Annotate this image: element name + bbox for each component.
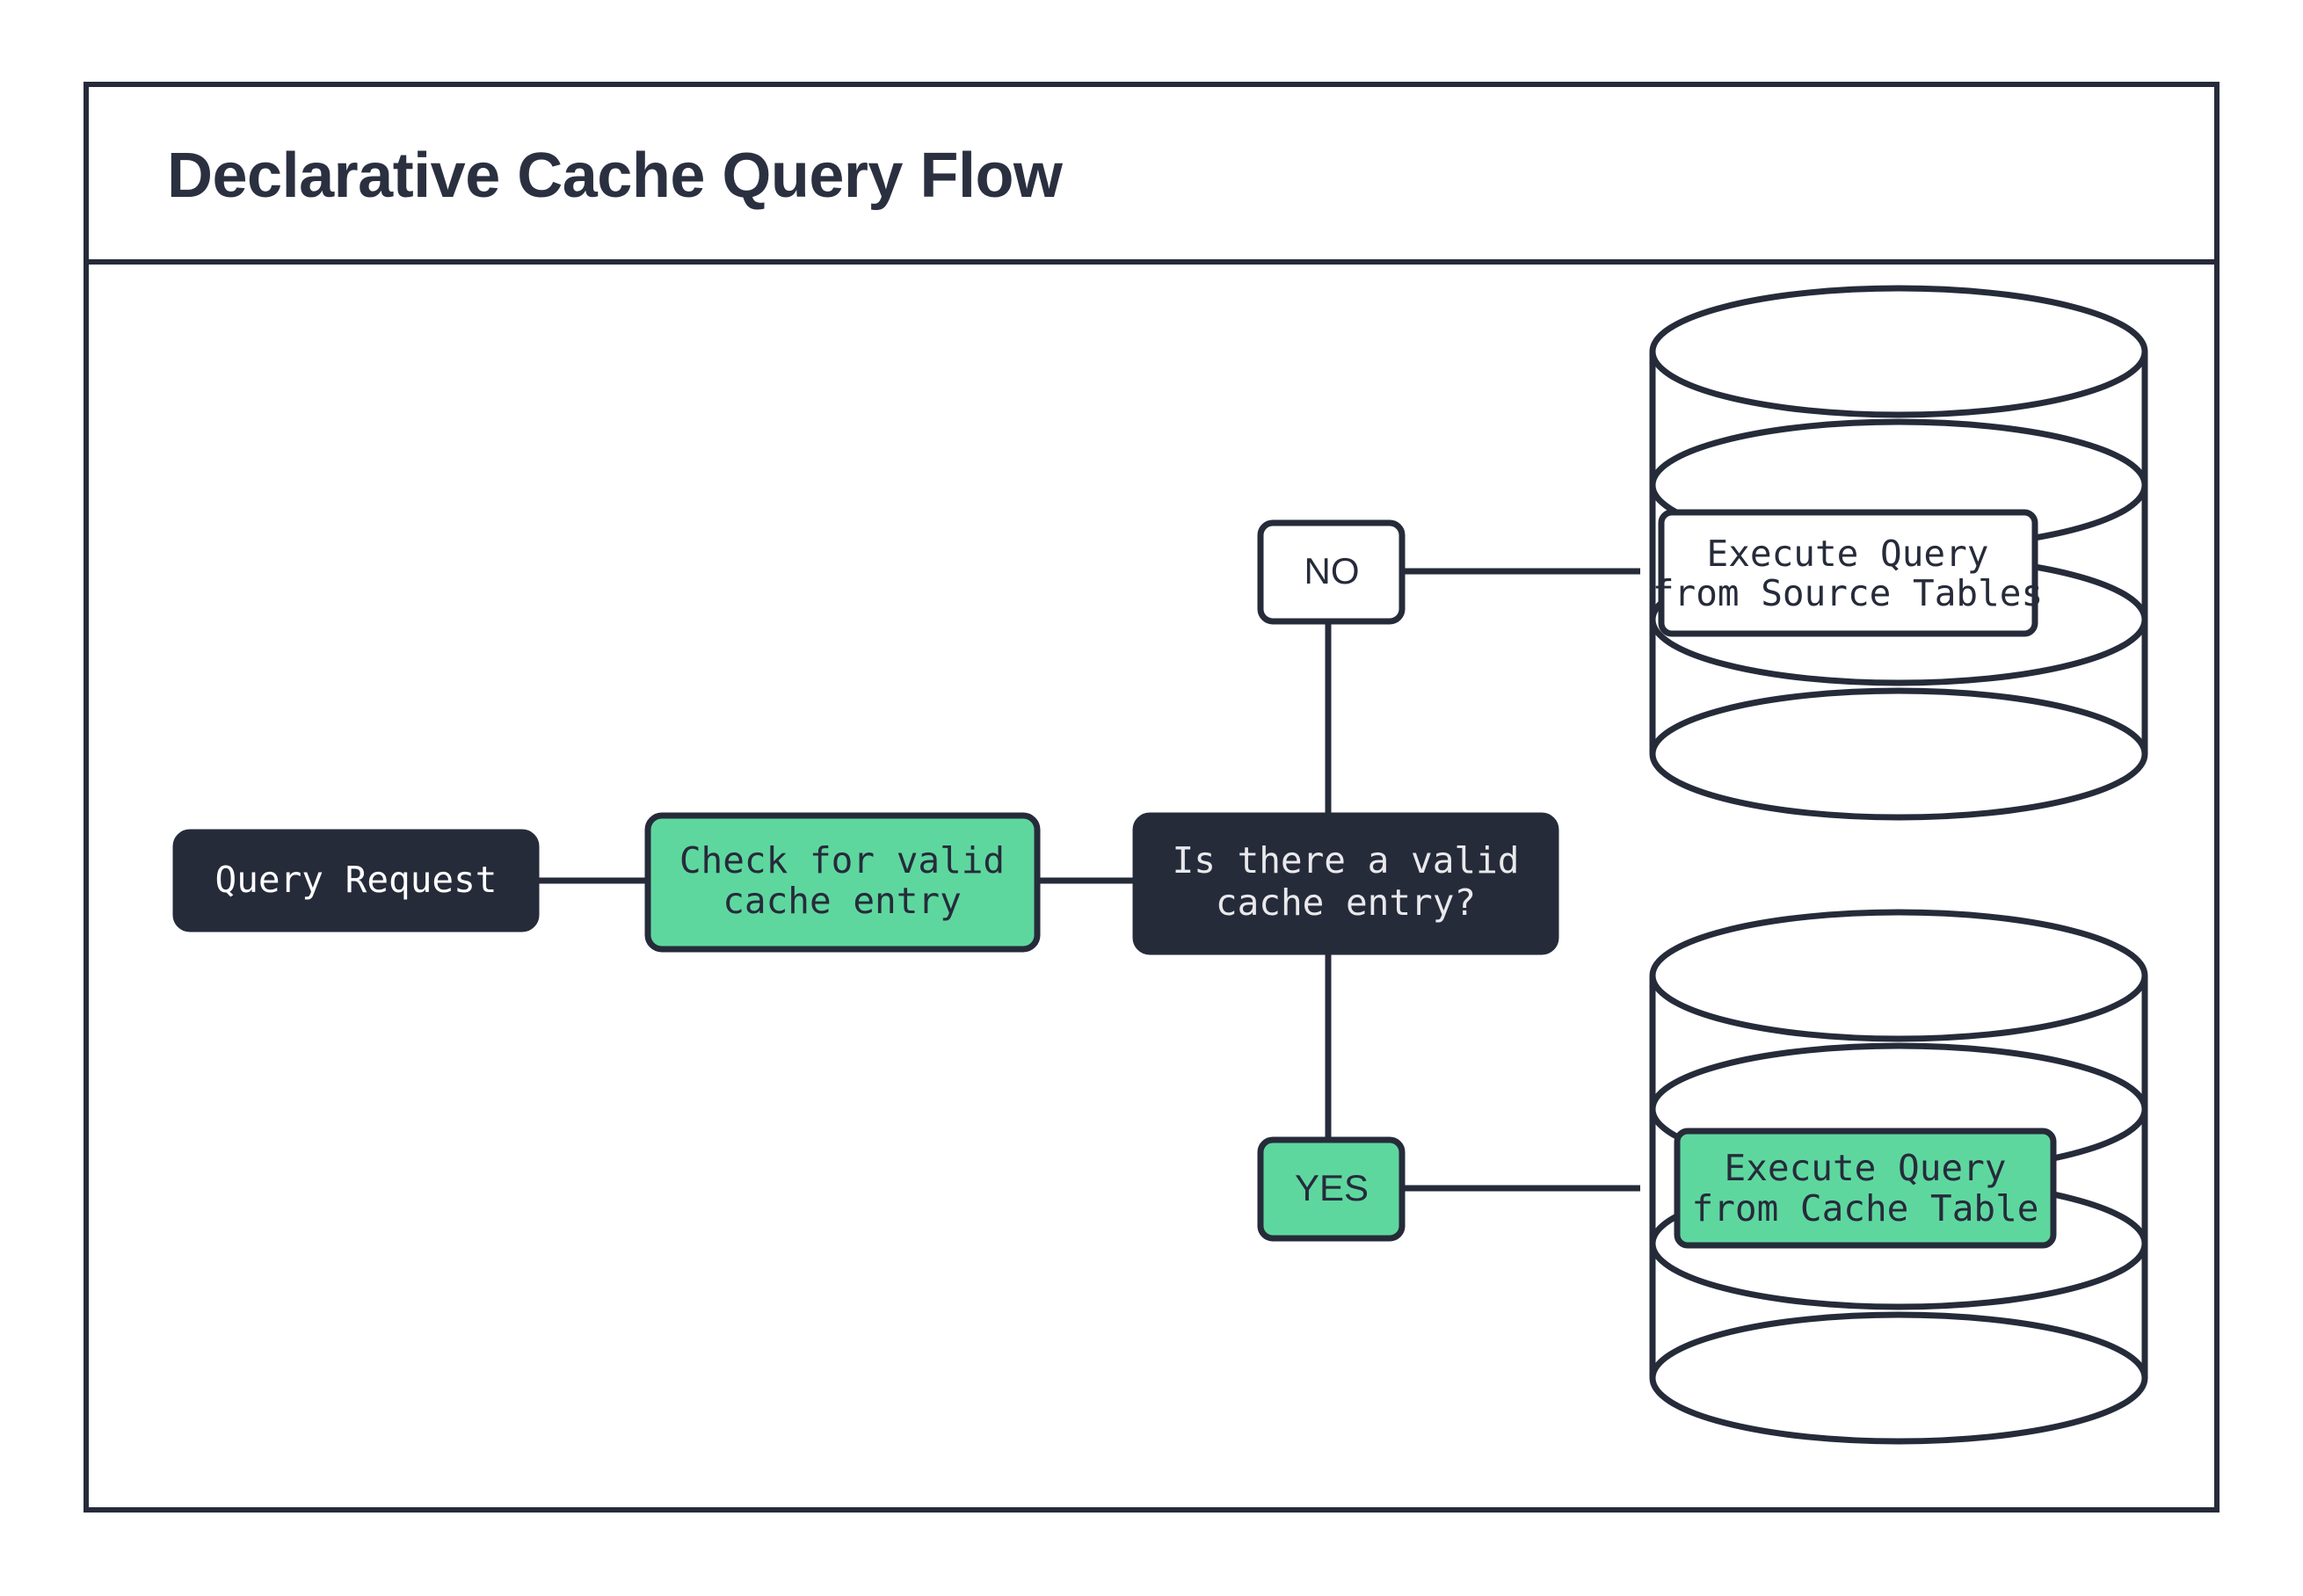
check-cache-label-line2: cache entry bbox=[723, 880, 962, 922]
node-check-cache[interactable]: Check for valid cache entry bbox=[648, 816, 1037, 949]
decision-label-line2: cache entry? bbox=[1216, 881, 1476, 924]
node-decision[interactable]: Is there a valid cache entry? bbox=[1136, 816, 1556, 952]
cylinder-top-ellipse-source bbox=[1653, 288, 2145, 415]
query-request-label: Query Request bbox=[215, 859, 498, 901]
node-query-request[interactable]: Query Request bbox=[176, 832, 536, 929]
cache-table-label-line1: Execute Query bbox=[1725, 1147, 2007, 1189]
decision-label-line1: Is there a valid bbox=[1173, 839, 1520, 881]
page-title: Declarative Cache Query Flow bbox=[167, 141, 1064, 211]
branch-label-no[interactable]: NO bbox=[1260, 523, 1402, 621]
cache-table-label-line2: from Cache Table bbox=[1692, 1187, 2039, 1230]
yes-label: YES bbox=[1295, 1167, 1369, 1208]
source-tables-label-line2: from Source Tables bbox=[1653, 572, 2043, 614]
flowchart-svg: Declarative Cache Query Flow bbox=[0, 0, 2303, 1596]
cylinder-top-ellipse-cache bbox=[1653, 912, 2145, 1039]
check-cache-label-line1: Check for valid bbox=[679, 839, 1005, 881]
branch-label-yes[interactable]: YES bbox=[1260, 1140, 1402, 1238]
diagram-canvas: Declarative Cache Query Flow bbox=[0, 0, 2303, 1596]
source-tables-label-line1: Execute Query bbox=[1707, 533, 1989, 575]
cylinder-bottom-ellipse-source bbox=[1653, 691, 2145, 817]
no-label: NO bbox=[1304, 550, 1360, 591]
cylinder-bottom-ellipse-cache bbox=[1653, 1315, 2145, 1441]
